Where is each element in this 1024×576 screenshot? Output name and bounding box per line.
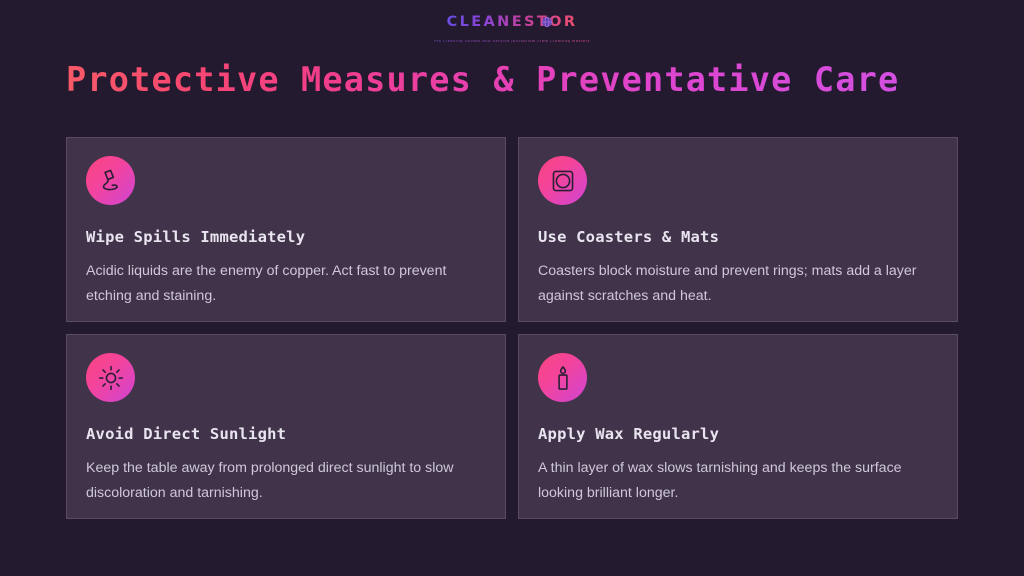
card-title: Avoid Direct Sunlight xyxy=(86,425,485,443)
card-body: A thin layer of wax slows tarnishing and… xyxy=(538,456,928,505)
card-body: Keep the table away from prolonged direc… xyxy=(86,456,476,505)
candle-icon xyxy=(538,353,587,402)
card-body: Acidic liquids are the enemy of copper. … xyxy=(86,259,476,308)
card-grid: Wipe Spills Immediately Acidic liquids a… xyxy=(66,137,958,519)
card-wipe-spills[interactable]: Wipe Spills Immediately Acidic liquids a… xyxy=(66,137,506,322)
brand-tagline: Pro Cleaning Guides And Service Journali… xyxy=(434,40,590,44)
spill-cup-icon xyxy=(86,156,135,205)
page-title: Protective Measures & Preventative Care xyxy=(66,60,899,99)
card-use-coasters[interactable]: Use Coasters & Mats Coasters block moist… xyxy=(518,137,958,322)
card-apply-wax[interactable]: Apply Wax Regularly A thin layer of wax … xyxy=(518,334,958,519)
card-title: Wipe Spills Immediately xyxy=(86,228,485,246)
brand-wordmark[interactable]: CLEANESTOR xyxy=(447,15,578,30)
card-title: Use Coasters & Mats xyxy=(538,228,937,246)
brand-wordmark-text: CLEANESTOR xyxy=(447,14,578,30)
card-body: Coasters block moisture and prevent ring… xyxy=(538,259,928,308)
sun-icon xyxy=(86,353,135,402)
coaster-icon xyxy=(538,156,587,205)
card-title: Apply Wax Regularly xyxy=(538,425,937,443)
brand-header: CLEANESTOR Pro Cleaning Guides And Servi… xyxy=(0,14,1024,46)
card-avoid-sunlight[interactable]: Avoid Direct Sunlight Keep the table awa… xyxy=(66,334,506,519)
globe-icon xyxy=(541,17,552,28)
